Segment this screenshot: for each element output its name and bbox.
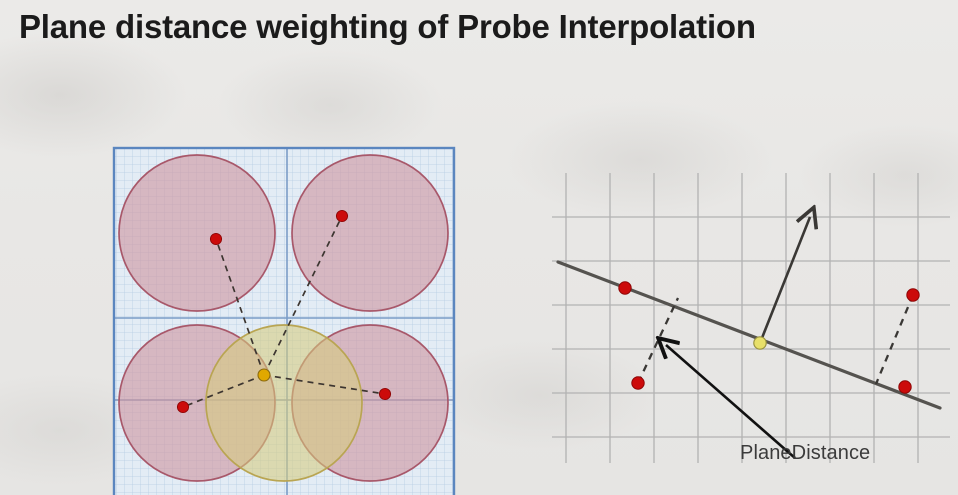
dashed-distance-right [876,295,913,384]
probe-point-top-left [210,233,221,244]
probe-point-right-lower [899,381,911,393]
plane-distance-diagram [548,155,958,490]
top-right-probe-circle [292,155,448,311]
page-title: Plane distance weighting of Probe Interp… [19,8,756,46]
dashed-distance-left [638,298,678,383]
plane-distance-svg [548,155,958,485]
sample-point [258,369,270,381]
plane-distance-label: PlaneDistance [740,442,870,465]
probe-grid-svg [108,140,468,495]
probe-point-below-plane [632,377,644,389]
probe-point-bottom-left [177,401,188,412]
probe-point-top-right [336,210,347,221]
top-left-probe-circle [119,155,275,311]
sample-point-on-plane [754,337,766,349]
probe-point-bottom-right [379,388,390,399]
probe-grid-diagram [108,140,468,495]
probe-point-on-plane-left [619,282,631,294]
probe-point-above-plane [907,289,919,301]
sample-influence-circle [206,325,362,481]
plane-normal-arrow [760,217,810,343]
plane-line [558,262,940,408]
slide-canvas: Plane distance weighting of Probe Interp… [0,0,958,495]
